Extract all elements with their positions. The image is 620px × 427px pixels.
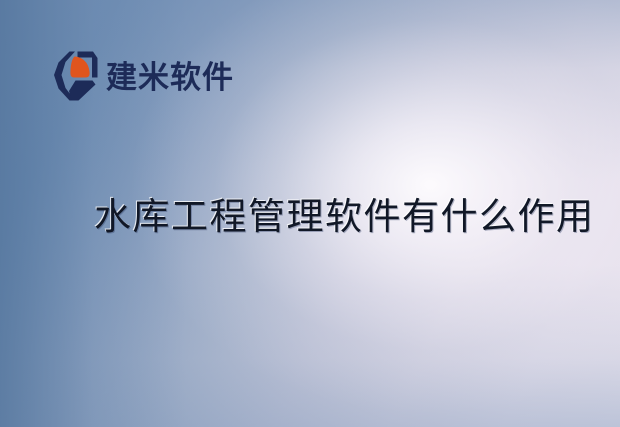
jianmi-swoosh-logo-icon (52, 50, 100, 102)
brand-logo[interactable]: 建米软件 (52, 50, 234, 102)
brand-logo-text: 建米软件 (106, 62, 234, 93)
logo-petal-shape (70, 57, 89, 78)
promo-banner: 建米软件 水库工程管理软件有什么作用 (0, 0, 620, 427)
logo-tail-shape (69, 81, 96, 101)
page-title: 水库工程管理软件有什么作用 (94, 196, 595, 240)
